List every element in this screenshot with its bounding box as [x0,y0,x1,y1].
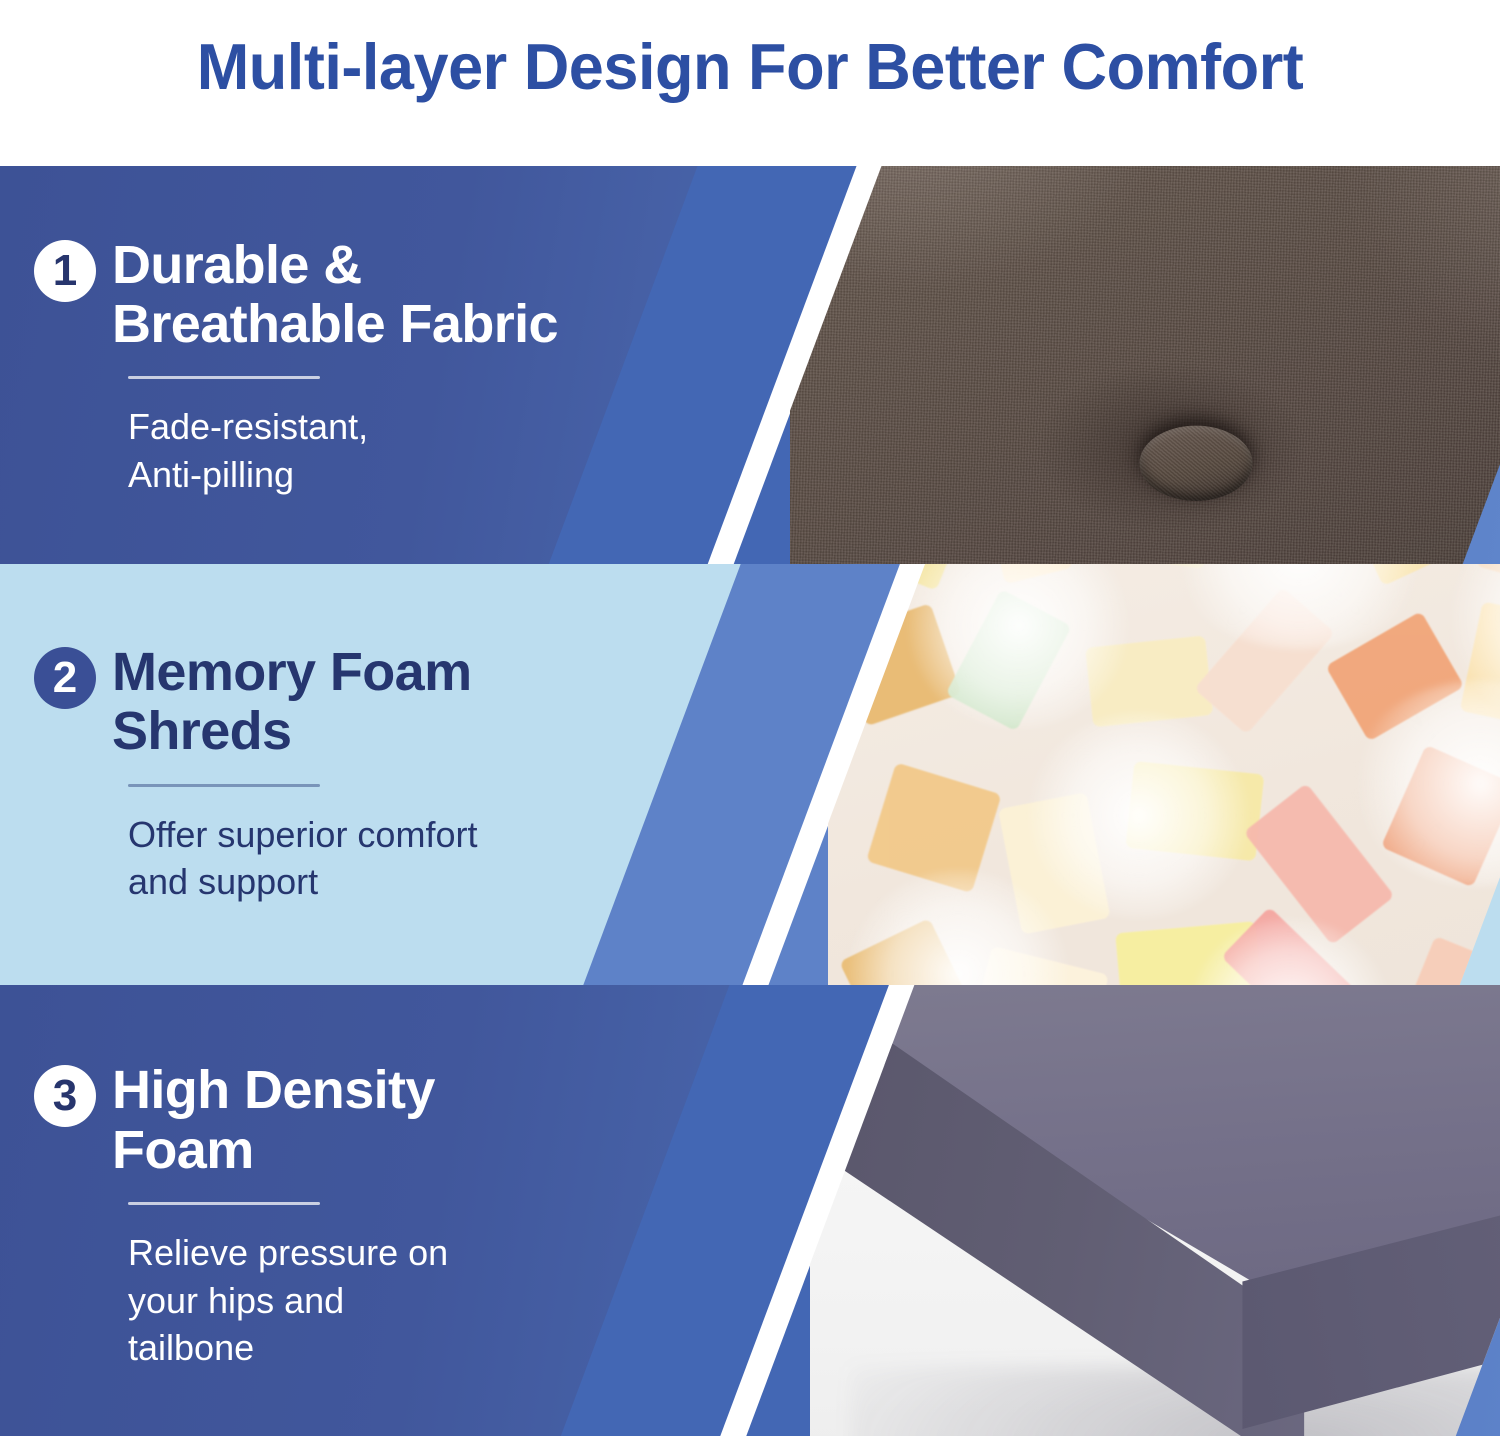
panel-3-head-row: 3 High Density Foam [34,1061,654,1180]
panel-2-subtext: Offer superior comfort and support [128,811,654,906]
tuft-button-icon [1139,426,1252,501]
panel-1-head-row: 1 Durable & Breathable Fabric [34,236,654,355]
feature-panel-3: 3 High Density Foam Relieve pressure on … [0,985,1500,1436]
page-title: Multi-layer Design For Better Comfort [23,0,1478,133]
panel-1-number-badge: 1 [34,240,96,302]
panel-3-heading: High Density Foam [112,1061,435,1180]
panel-1-heading: Durable & Breathable Fabric [112,236,558,355]
panel-2-content: 2 Memory Foam Shreds Offer superior comf… [34,564,654,985]
panel-1-divider [128,376,320,379]
panel-2-divider [128,784,320,787]
panel-3-number-badge: 3 [34,1065,96,1127]
panel-3-content: 3 High Density Foam Relieve pressure on … [34,985,654,1436]
panel-3-subtext: Relieve pressure on your hips and tailbo… [128,1229,654,1372]
panel-2-head-row: 2 Memory Foam Shreds [34,643,654,762]
panel-3-divider [128,1202,320,1205]
panel-1-content: 1 Durable & Breathable Fabric Fade-resis… [34,166,654,564]
feature-panel-2: 2 Memory Foam Shreds Offer superior comf… [0,564,1500,985]
feature-panel-1: 1 Durable & Breathable Fabric Fade-resis… [0,166,1500,564]
shreds-texture [828,564,1500,985]
panel-2-number-badge: 2 [34,647,96,709]
infographic-page: Multi-layer Design For Better Comfort 1 … [0,0,1500,1436]
fabric-texture [790,166,1500,564]
foam-scene [810,985,1500,1436]
panel-1-subtext: Fade-resistant, Anti-pilling [128,403,654,498]
panel-2-heading: Memory Foam Shreds [112,643,471,762]
